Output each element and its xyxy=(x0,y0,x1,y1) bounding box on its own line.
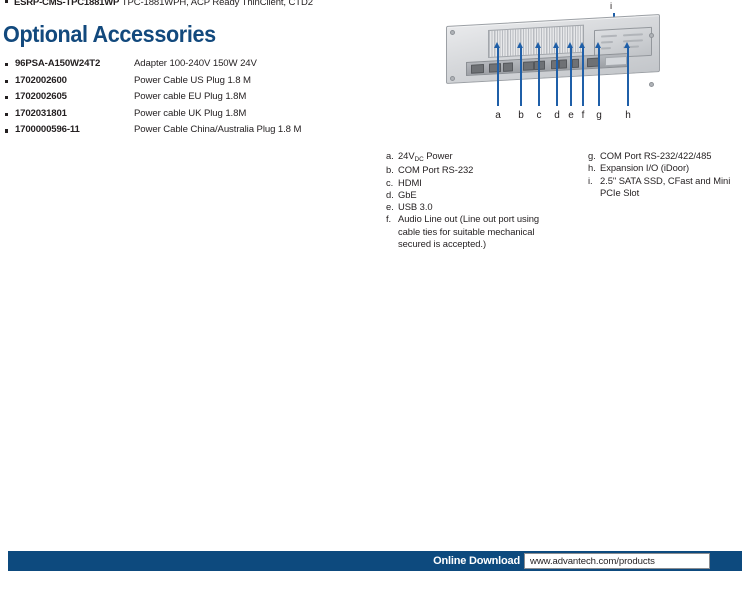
port-usb30-1 xyxy=(551,60,559,69)
callout-letter-f: f xyxy=(577,110,589,122)
legend-item-e: e.USB 3.0 xyxy=(386,201,556,213)
port-com-rs232 xyxy=(489,63,501,73)
legend-item-a: a.24VDC Power xyxy=(386,150,556,164)
port-usb30-2 xyxy=(559,59,567,68)
list-item: 1702002600 Power Cable US Plug 1.8 M xyxy=(0,73,380,90)
top-product-description: TPC-1881WPH, ACP Ready ThinClient, CTD2 xyxy=(122,0,313,8)
bullet-square-icon xyxy=(5,63,8,66)
accessory-part-number: 1702002600 xyxy=(15,73,67,90)
top-product-sku: ESRP-CMS-TPC1881WP xyxy=(14,0,119,8)
callout-letter-i: i xyxy=(610,2,612,12)
accessory-part-number: 1702031801 xyxy=(15,106,67,123)
accessory-part-number: 1702002605 xyxy=(15,89,67,106)
optional-accessories-list: 96PSA-A150W24T2 Adapter 100-240V 150W 24… xyxy=(0,56,380,139)
accessory-part-number: 1700000596-11 xyxy=(15,122,80,139)
callout-leader-line-b xyxy=(520,48,522,106)
product-photo: i xyxy=(440,0,680,130)
callout-letter-e: e xyxy=(565,110,577,122)
callout-leader-line-h xyxy=(627,48,629,106)
legend-item-i: i.2.5" SATA SSD, CFast and Mini PCIe Slo… xyxy=(588,175,748,200)
legend-marker: b. xyxy=(386,164,397,176)
accessory-description: Power Cable China/Australia Plug 1.8 M xyxy=(134,122,301,139)
port-gbe-1 xyxy=(523,61,534,71)
bullet-square-icon xyxy=(5,113,8,116)
callout-letter-b: b xyxy=(515,110,527,122)
legend-item-f: f.Audio Line out (Line out port using ca… xyxy=(386,213,556,250)
callout-letter-c: c xyxy=(533,110,545,122)
accessory-description: Power cable EU Plug 1.8M xyxy=(134,89,246,106)
legend-marker: e. xyxy=(386,201,397,213)
legend-marker: f. xyxy=(386,213,397,225)
callout-leader-line-g xyxy=(598,48,600,106)
legend-text: GbE xyxy=(398,189,417,200)
list-item: 1702002605 Power cable EU Plug 1.8M xyxy=(0,89,380,106)
callout-leader-line-d xyxy=(556,48,558,106)
online-download-url-box[interactable]: www.advantech.com/products xyxy=(524,553,710,569)
legend-item-b: b.COM Port RS-232 xyxy=(386,164,556,176)
legend-marker: d. xyxy=(386,189,397,201)
bullet-square-icon xyxy=(5,96,8,99)
bullet-square-icon xyxy=(5,129,8,132)
screw-icon xyxy=(450,30,455,35)
accessory-description: Power Cable US Plug 1.8 M xyxy=(134,73,251,90)
legend-text: USB 3.0 xyxy=(398,201,433,212)
legend-text: HDMI xyxy=(398,177,422,188)
legend-marker: c. xyxy=(386,177,397,189)
legend-marker: g. xyxy=(588,150,599,162)
legend-item-g: g.COM Port RS-232/422/485 xyxy=(588,150,748,162)
callout-leader-line-c xyxy=(538,48,540,106)
top-product-line: ESRP-CMS-TPC1881WP TPC-1881WPH, ACP Read… xyxy=(0,0,420,9)
legend-marker: a. xyxy=(386,150,397,162)
callout-letter-h: h xyxy=(622,110,634,122)
callout-leader-line-f xyxy=(582,48,584,106)
port-hdmi xyxy=(503,62,513,72)
callout-letter-g: g xyxy=(593,110,605,122)
accessory-part-number: 96PSA-A150W24T2 xyxy=(15,56,100,73)
callout-letter-d: d xyxy=(551,110,563,122)
screw-icon xyxy=(649,82,654,87)
callout-letter-a: a xyxy=(492,110,504,122)
legend-text: COM Port RS-232/422/485 xyxy=(600,150,711,161)
screw-icon xyxy=(450,76,455,81)
legend-subscript: DC xyxy=(415,156,424,163)
screw-icon xyxy=(649,33,654,38)
online-download-url-text: www.advantech.com/products xyxy=(530,555,655,569)
accessory-description: Power cable UK Plug 1.8M xyxy=(134,106,246,123)
legend-column-left: a.24VDC Power b.COM Port RS-232 c.HDMI d… xyxy=(386,150,556,250)
legend-text: 24V xyxy=(398,150,415,161)
legend-marker: h. xyxy=(588,162,599,174)
legend-text: COM Port RS-232 xyxy=(398,164,473,175)
legend-text-after: Power xyxy=(424,150,453,161)
bullet-square-icon xyxy=(5,80,8,83)
list-item: 1700000596-11 Power Cable China/Australi… xyxy=(0,122,380,139)
legend-item-c: c.HDMI xyxy=(386,177,556,189)
legend-marker: i. xyxy=(588,175,599,187)
page-title: Optional Accessories xyxy=(3,21,216,47)
legend-text: Audio Line out (Line out port using cabl… xyxy=(398,213,539,249)
bullet-square-icon xyxy=(5,0,8,3)
port-audio-line-out xyxy=(572,59,579,68)
online-download-label: Online Download xyxy=(433,554,520,568)
accessory-description: Adapter 100-240V 150W 24V xyxy=(134,56,257,73)
expansion-io-bay xyxy=(605,56,627,66)
legend-text: 2.5" SATA SSD, CFast and Mini PCIe Slot xyxy=(600,175,730,198)
list-item: 1702031801 Power cable UK Plug 1.8M xyxy=(0,106,380,123)
port-dc-power xyxy=(471,64,484,74)
list-item: 96PSA-A150W24T2 Adapter 100-240V 150W 24… xyxy=(0,56,380,73)
callout-leader-line-a xyxy=(497,48,499,106)
legend-item-d: d.GbE xyxy=(386,189,556,201)
legend-column-right: g.COM Port RS-232/422/485 h.Expansion I/… xyxy=(588,150,748,199)
legend-text: Expansion I/O (iDoor) xyxy=(600,162,689,173)
callout-leader-line-e xyxy=(570,48,572,106)
legend-item-h: h.Expansion I/O (iDoor) xyxy=(588,162,748,174)
